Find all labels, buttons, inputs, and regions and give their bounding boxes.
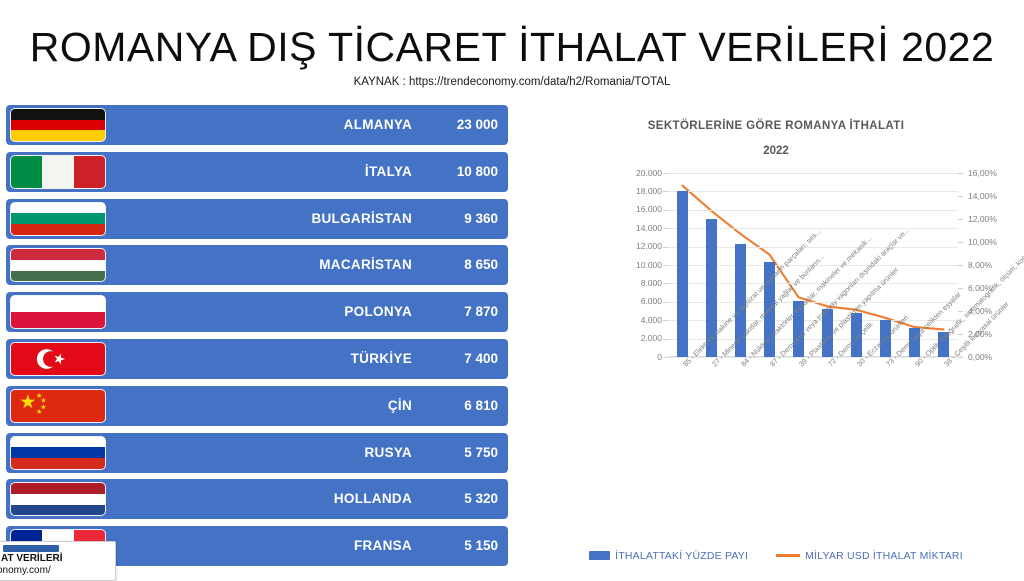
y-axis-right-tick: 10,00% bbox=[968, 237, 1024, 247]
country-name: TÜRKİYE bbox=[351, 351, 412, 366]
country-name: BULGARİSTAN bbox=[311, 211, 412, 226]
country-name: ÇİN bbox=[388, 398, 412, 413]
y-axis-right-tick-mark bbox=[958, 242, 963, 243]
country-import-value: 5 320 bbox=[428, 491, 498, 506]
china-stars-icon bbox=[11, 390, 105, 422]
flag-stripe bbox=[74, 156, 105, 188]
country-name: FRANSA bbox=[354, 538, 412, 553]
y-axis-left-tick-mark bbox=[663, 357, 668, 358]
chart-gridline bbox=[668, 210, 958, 211]
country-import-list: ALMANYA23 000İTALYA10 800BULGARİSTAN9 36… bbox=[6, 105, 516, 575]
y-axis-left-tick-mark bbox=[663, 283, 668, 284]
country-name: HOLLANDA bbox=[334, 491, 412, 506]
country-row[interactable]: TÜRKİYE7 400 bbox=[6, 339, 508, 379]
flag-stripe bbox=[11, 312, 105, 328]
y-axis-right-tick-mark bbox=[958, 196, 963, 197]
y-axis-right-tick-mark bbox=[958, 288, 963, 289]
y-axis-right-tick: 14,00% bbox=[968, 191, 1024, 201]
country-import-value: 10 800 bbox=[428, 164, 498, 179]
flag-bulgaria-icon bbox=[10, 202, 106, 236]
chart-title: SEKTÖRLERİNE GÖRE ROMANYA İTHALATI bbox=[528, 120, 1024, 132]
overlay-line-1: AT VERİLERİ bbox=[1, 553, 62, 564]
page-title: ROMANYA DIŞ TİCARET İTHALAT VERİLERİ 202… bbox=[0, 24, 1024, 71]
y-axis-left-tick: 12.000 bbox=[602, 241, 662, 251]
country-import-value: 7 870 bbox=[428, 304, 498, 319]
y-axis-right-tick-mark bbox=[958, 334, 963, 335]
country-import-value: 9 360 bbox=[428, 211, 498, 226]
flag-stripe bbox=[11, 156, 42, 188]
y-axis-right-tick: 12,00% bbox=[968, 214, 1024, 224]
legend-item[interactable]: İTHALATTAKİ YÜZDE PAYI bbox=[589, 547, 748, 565]
overlay-accent-bar bbox=[3, 545, 59, 552]
y-axis-right-tick: 0,00% bbox=[968, 352, 1024, 362]
y-axis-right-tick-mark bbox=[958, 173, 963, 174]
y-axis-left-tick-mark bbox=[663, 210, 668, 211]
country-import-value: 8 650 bbox=[428, 257, 498, 272]
flag-poland-icon bbox=[10, 295, 106, 329]
country-row[interactable]: HOLLANDA5 320 bbox=[6, 479, 508, 519]
y-axis-left-tick: 14.000 bbox=[602, 223, 662, 233]
source-citation: KAYNAK : https://trendeconomy.com/data/h… bbox=[0, 76, 1024, 88]
country-row[interactable]: ÇİN6 810 bbox=[6, 386, 508, 426]
flag-stripe bbox=[11, 224, 105, 235]
chart-gridline bbox=[668, 173, 958, 174]
chart-bar bbox=[677, 191, 688, 357]
y-axis-left-tick: 2.000 bbox=[602, 333, 662, 343]
legend-label: İTHALATTAKİ YÜZDE PAYI bbox=[615, 550, 748, 562]
y-axis-left-tick: 4.000 bbox=[602, 315, 662, 325]
crescent-star-icon bbox=[11, 343, 105, 375]
country-import-value: 5 750 bbox=[428, 445, 498, 460]
y-axis-right-tick: 16,00% bbox=[968, 168, 1024, 178]
y-axis-left-tick: 10.000 bbox=[602, 260, 662, 270]
flag-stripe bbox=[11, 213, 105, 224]
sector-import-chart: SEKTÖRLERİNE GÖRE ROMANYA İTHALATI 2022 … bbox=[528, 100, 1024, 579]
flag-stripe bbox=[11, 458, 105, 469]
country-name: MACARİSTAN bbox=[319, 257, 412, 272]
y-axis-left-tick-mark bbox=[663, 302, 668, 303]
y-axis-left-tick-mark bbox=[663, 173, 668, 174]
country-row[interactable]: MACARİSTAN8 650 bbox=[6, 245, 508, 285]
flag-stripe bbox=[11, 130, 105, 141]
flag-hungary-icon bbox=[10, 248, 106, 282]
flag-stripe bbox=[11, 109, 105, 120]
country-name: İTALYA bbox=[365, 164, 412, 179]
chart-plot-area: 02.0004.0006.0008.00010.00012.00014.0001… bbox=[668, 173, 958, 357]
flag-stripe bbox=[11, 249, 105, 260]
legend-bar-swatch bbox=[589, 551, 610, 560]
y-axis-left-tick-mark bbox=[663, 265, 668, 266]
flag-stripe bbox=[11, 120, 105, 131]
flag-stripe bbox=[11, 494, 105, 505]
flag-turkey-icon bbox=[10, 342, 106, 376]
chart-subtitle: 2022 bbox=[528, 145, 1024, 157]
y-axis-left-tick: 16.000 bbox=[602, 204, 662, 214]
country-row[interactable]: BULGARİSTAN9 360 bbox=[6, 199, 508, 239]
y-axis-left-tick: 20.000 bbox=[602, 168, 662, 178]
page-header: ROMANYA DIŞ TİCARET İTHALAT VERİLERİ 202… bbox=[0, 0, 1024, 98]
y-axis-left-tick-mark bbox=[663, 320, 668, 321]
country-row[interactable]: ALMANYA23 000 bbox=[6, 105, 508, 145]
overlay-line-2: onomy.com/ bbox=[0, 565, 51, 576]
country-row[interactable]: İTALYA10 800 bbox=[6, 152, 508, 192]
legend-item[interactable]: MİLYAR USD İTHALAT MİKTARI bbox=[776, 547, 963, 565]
flag-stripe bbox=[11, 447, 105, 458]
overlay-thumbnail[interactable]: AT VERİLERİ onomy.com/ bbox=[0, 541, 116, 581]
country-name: POLONYA bbox=[344, 304, 412, 319]
flag-stripe bbox=[11, 437, 105, 448]
country-import-value: 6 810 bbox=[428, 398, 498, 413]
flag-stripe bbox=[11, 296, 105, 312]
y-axis-left-tick-mark bbox=[663, 191, 668, 192]
y-axis-left-tick: 6.000 bbox=[602, 296, 662, 306]
flag-germany-icon bbox=[10, 108, 106, 142]
country-import-value: 7 400 bbox=[428, 351, 498, 366]
flag-china-icon bbox=[10, 389, 106, 423]
country-row[interactable]: RUSYA5 750 bbox=[6, 433, 508, 473]
flag-stripe bbox=[11, 271, 105, 282]
country-row[interactable]: POLONYA7 870 bbox=[6, 292, 508, 332]
country-import-value: 5 150 bbox=[428, 538, 498, 553]
legend-label: MİLYAR USD İTHALAT MİKTARI bbox=[805, 550, 963, 562]
y-axis-left-tick: 0 bbox=[602, 352, 662, 362]
y-axis-right-tick-mark bbox=[958, 219, 963, 220]
country-name: RUSYA bbox=[364, 445, 412, 460]
flag-italy-icon bbox=[10, 155, 106, 189]
flag-netherlands-icon bbox=[10, 482, 106, 516]
y-axis-left-tick-mark bbox=[663, 228, 668, 229]
flag-stripe bbox=[11, 260, 105, 271]
y-axis-left-tick: 8.000 bbox=[602, 278, 662, 288]
chart-gridline bbox=[668, 191, 958, 192]
y-axis-left-tick: 18.000 bbox=[602, 186, 662, 196]
country-import-value: 23 000 bbox=[428, 117, 498, 132]
legend-line-swatch bbox=[776, 554, 800, 557]
flag-russia-icon bbox=[10, 436, 106, 470]
country-name: ALMANYA bbox=[344, 117, 412, 132]
flag-stripe bbox=[11, 203, 105, 214]
flag-stripe bbox=[11, 483, 105, 494]
y-axis-right-tick-mark bbox=[958, 265, 963, 266]
y-axis-left-tick-mark bbox=[663, 339, 668, 340]
flag-stripe bbox=[42, 156, 73, 188]
flag-stripe bbox=[11, 505, 105, 516]
chart-legend: İTHALATTAKİ YÜZDE PAYIMİLYAR USD İTHALAT… bbox=[528, 547, 1024, 571]
y-axis-left-tick-mark bbox=[663, 247, 668, 248]
